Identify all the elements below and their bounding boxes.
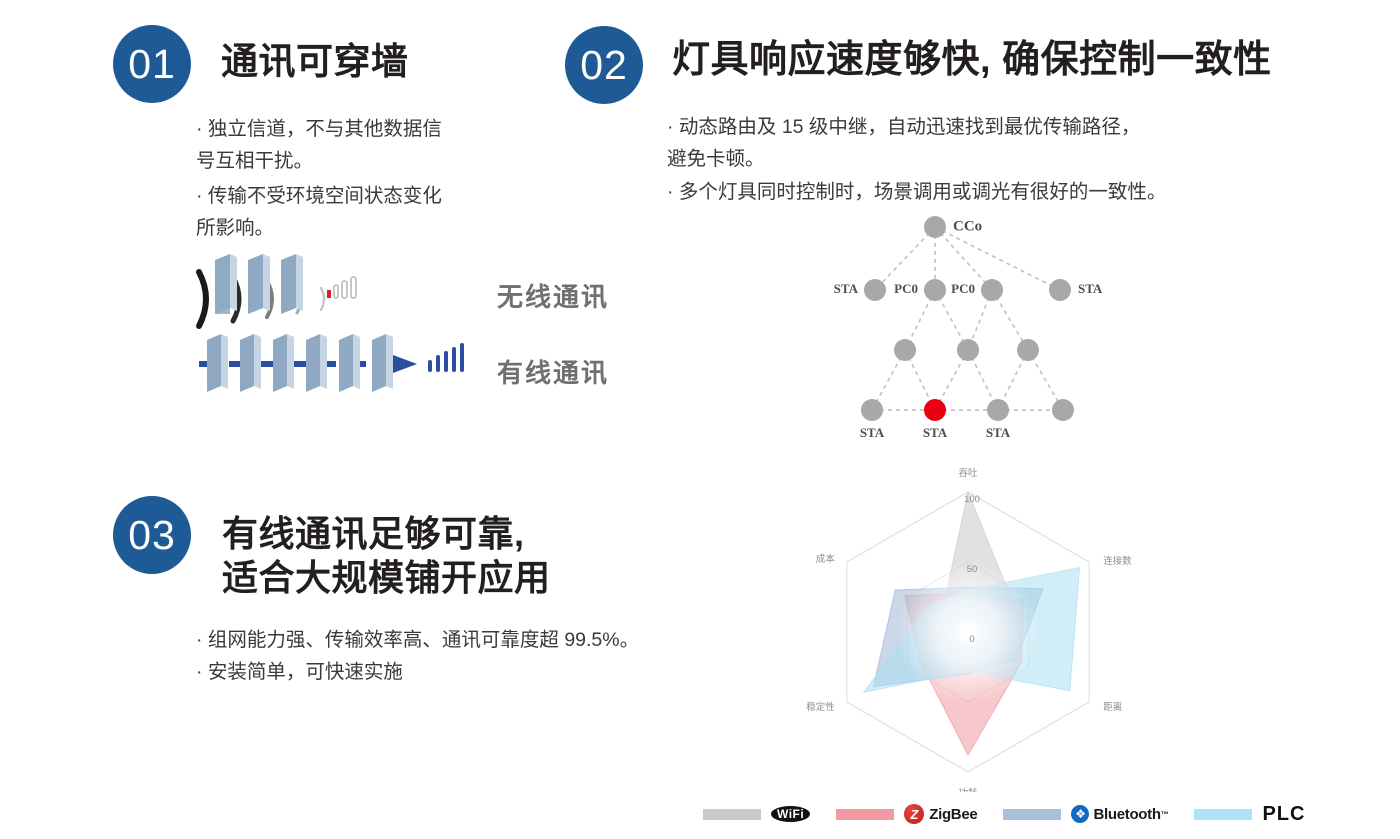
legend-item-zigbee[interactable]: Z ZigBee	[836, 804, 977, 824]
mesh-node-highlight	[924, 399, 946, 421]
slide-canvas: 01 通讯可穿墙 · 独立信道，不与其他数据信 号互相干扰。 · 传输不受环境空…	[0, 0, 1400, 839]
radar-axis-label: 成本	[816, 553, 836, 565]
section-number-03: 03	[128, 515, 176, 556]
radar-chart: 吞吐连接数距离功耗稳定性成本 100500	[790, 462, 1160, 792]
legend-swatch-zigbee	[836, 809, 894, 820]
radar-axis-label: 距离	[1103, 701, 1122, 713]
bluetooth-icon-mark: ❖	[1071, 805, 1089, 823]
section-bullets-02-a: · 动态路由及 15 级中继，自动迅速找到最优传输路径， 避免卡顿。	[667, 112, 1307, 175]
plc-icon: PLC	[1262, 803, 1305, 826]
node-label-sta-right: STA	[1078, 281, 1103, 296]
legend-item-plc[interactable]: PLC	[1194, 803, 1305, 826]
trademark-mark: ™	[1161, 810, 1169, 819]
chart-legend: WiFi Z ZigBee ❖ Bluetooth™ PLC	[703, 800, 1305, 828]
radar-tick-label: 100	[964, 494, 980, 505]
section-number-02: 02	[580, 45, 628, 86]
node-label-sta-b2: STA	[923, 425, 948, 440]
section-badge-03: 03	[113, 496, 191, 574]
node-label-cco: CCo	[953, 218, 982, 234]
mesh-network-svg: CCo STA PC0 PC0 STA STA STA STA	[820, 205, 1120, 455]
section-number-01: 01	[128, 44, 176, 85]
section-title-02: 灯具响应速度够快, 确保控制一致性	[672, 37, 1272, 83]
radar-center-glow	[896, 560, 1040, 704]
radar-axis-label: 功耗	[958, 788, 978, 792]
radar-chart-svg: 吞吐连接数距离功耗稳定性成本 100500	[790, 462, 1160, 792]
legend-item-wifi[interactable]: WiFi	[703, 806, 810, 822]
radar-axis-label: 吞吐	[958, 468, 978, 479]
mesh-network-diagram: CCo STA PC0 PC0 STA STA STA STA	[820, 205, 1120, 455]
legend-swatch-wifi	[703, 809, 761, 820]
wired-label: 有线通讯	[497, 353, 609, 390]
section-bullets-01-a: · 独立信道，不与其他数据信 号互相干扰。	[196, 114, 546, 177]
zigbee-icon-mark: Z	[904, 804, 924, 824]
bluetooth-icon: ❖ Bluetooth™	[1071, 805, 1168, 823]
section-badge-01: 01	[113, 25, 191, 103]
section-badge-02: 02	[565, 26, 643, 104]
section-title-03: 有线通讯足够可靠, 适合大规模铺开应用	[222, 512, 551, 600]
node-label-pco-2: PC0	[951, 281, 975, 296]
wifi-icon: WiFi	[771, 806, 810, 822]
mesh-nodes	[861, 216, 1074, 421]
mesh-links	[872, 227, 1063, 410]
node-label-sta-left: STA	[834, 281, 859, 296]
legend-label-zigbee: ZigBee	[929, 806, 977, 823]
wifi-icon-mark: WiFi	[771, 806, 810, 822]
radar-axis-label: 稳定性	[806, 701, 835, 713]
wireless-label: 无线通讯	[497, 277, 609, 314]
node-label-pco-1: PC0	[894, 281, 918, 296]
legend-swatch-bluetooth	[1003, 809, 1061, 820]
section-bullets-02-b: · 多个灯具同时控制时，场景调用或调光有很好的一致性。	[667, 177, 1307, 209]
radar-axis-label: 连接数	[1103, 555, 1132, 567]
wireless-row	[199, 254, 356, 326]
section-bullets-03-b: · 安装简单，可快速实施	[196, 657, 816, 689]
node-label-sta-b3: STA	[986, 425, 1011, 440]
section-bullets-01-b: · 传输不受环境空间状态变化 所影响。	[196, 181, 546, 244]
legend-item-bluetooth[interactable]: ❖ Bluetooth™	[1003, 805, 1168, 823]
radar-tick-label: 0	[969, 634, 974, 645]
radar-tick-label: 50	[967, 564, 978, 575]
wired-row	[199, 334, 464, 392]
section-title-01: 通讯可穿墙	[221, 39, 409, 84]
section-bullets-03-a: · 组网能力强、传输效率高、通讯可靠度超 99.5%。	[196, 625, 816, 657]
node-label-sta-b1: STA	[860, 425, 885, 440]
zigbee-icon: Z ZigBee	[904, 804, 977, 824]
legend-swatch-plc	[1194, 809, 1252, 820]
legend-label-bluetooth: Bluetooth	[1093, 806, 1160, 823]
